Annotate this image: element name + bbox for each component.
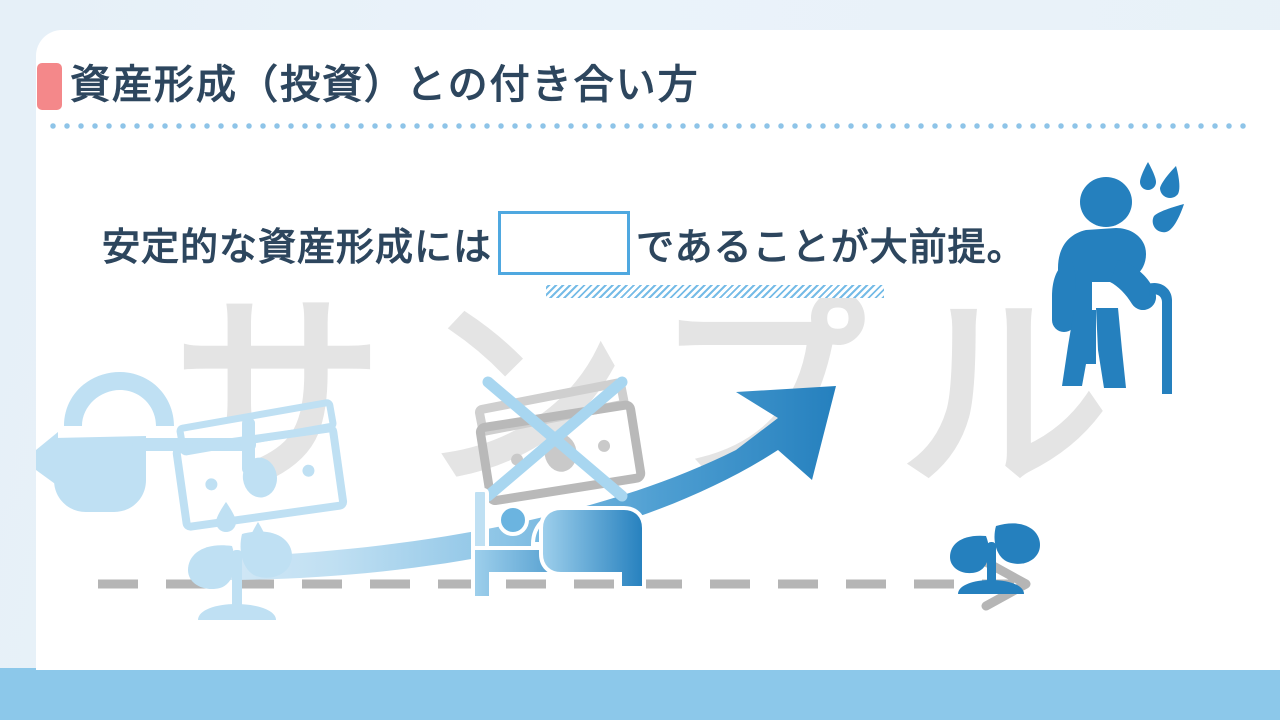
banknote-icon <box>176 402 343 527</box>
page-title: 資産形成（投資）との付き合い方 <box>70 56 700 114</box>
title-accent-block <box>37 63 62 110</box>
bottom-band <box>0 668 1280 720</box>
slide-card: 資産形成（投資）との付き合い方 サンプル 安定的な資産形成には であることが大前… <box>36 30 1280 670</box>
illustration-area <box>36 150 1280 670</box>
crossed-out-banknote-icon <box>479 382 641 501</box>
title-dotted-rule <box>46 123 1254 129</box>
sprout-icon <box>188 531 292 620</box>
slide-header: 資産形成（投資）との付き合い方 <box>36 30 1280 130</box>
elderly-person-with-cane-icon <box>1052 162 1184 394</box>
slide-stage: 資産形成（投資）との付き合い方 サンプル 安定的な資産形成には であることが大前… <box>0 0 1280 720</box>
